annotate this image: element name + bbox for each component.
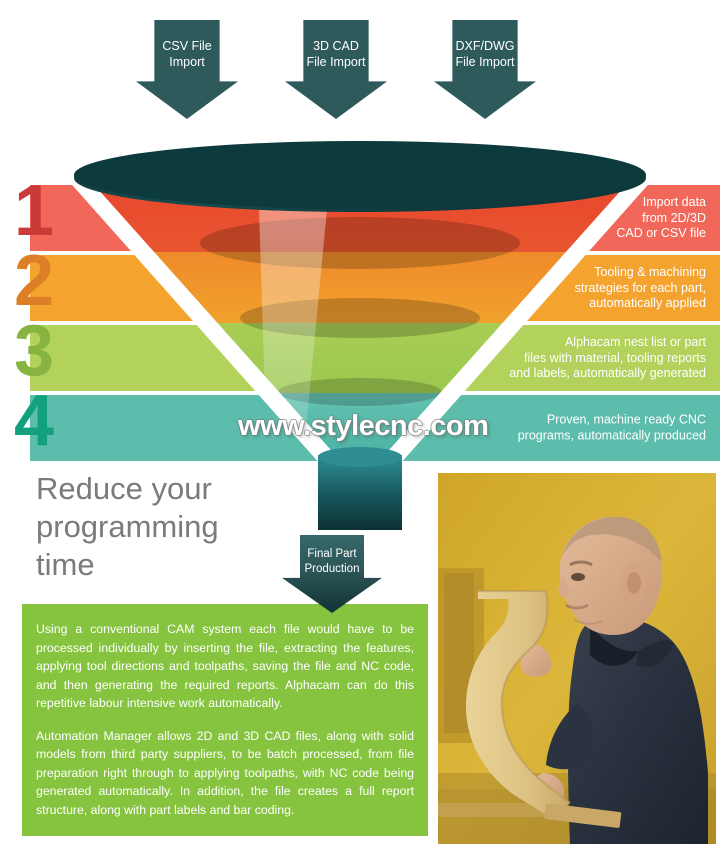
- final-part-arrow: Final Part Production: [282, 535, 382, 613]
- stage-band-1-text: Import data from 2D/3D CAD or CSV file: [616, 195, 706, 242]
- stage-number-2: 2: [14, 245, 54, 317]
- worker-photo: [438, 473, 716, 844]
- page-title: Reduce your programming time: [36, 470, 296, 584]
- import-arrow-csv-label: CSV File Import: [136, 38, 238, 70]
- watermark: www.stylecnc.com: [238, 410, 488, 443]
- infographic-root: CSV File Import 3D CAD File Import DXF/D…: [0, 0, 720, 854]
- import-arrow-3dcad: 3D CAD File Import: [285, 20, 387, 119]
- stage-band-4-text: Proven, machine ready CNC programs, auto…: [518, 413, 706, 444]
- stage-number-3: 3: [14, 315, 54, 387]
- description-paragraph-2: Automation Manager allows 2D and 3D CAD …: [36, 727, 414, 820]
- stage-number-1: 1: [14, 175, 54, 247]
- stage-band-3-text: Alphacam nest list or part files with ma…: [509, 335, 706, 382]
- funnel-neck: [318, 455, 402, 530]
- description-paragraph-1: Using a conventional CAM system each fil…: [36, 620, 414, 713]
- import-arrow-dxf-label: DXF/DWG File Import: [434, 38, 536, 70]
- final-part-arrow-label: Final Part Production: [282, 547, 382, 576]
- worker-photo-illustration: [438, 473, 716, 844]
- stage-number-4-wrap: 4: [0, 395, 120, 461]
- import-arrow-csv: CSV File Import: [136, 20, 238, 119]
- import-arrow-3dcad-label: 3D CAD File Import: [285, 38, 387, 70]
- description-box: Using a conventional CAM system each fil…: [22, 604, 428, 836]
- stage-number-4: 4: [14, 385, 54, 457]
- import-arrow-dxf: DXF/DWG File Import: [434, 20, 536, 119]
- stage-band-2-text: Tooling & machining strategies for each …: [575, 265, 706, 312]
